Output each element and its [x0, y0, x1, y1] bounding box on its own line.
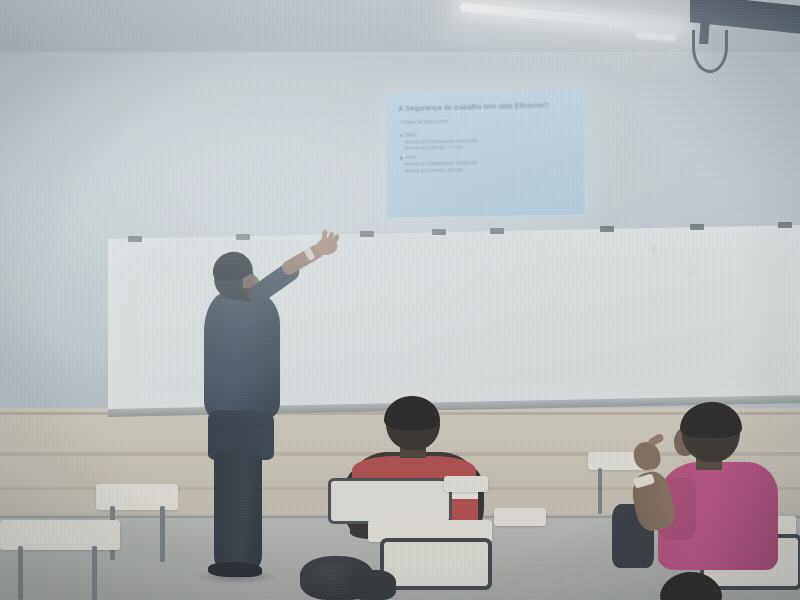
desk-chair-back [380, 538, 492, 590]
desk-chair-back [328, 478, 452, 524]
whiteboard-clip [690, 224, 704, 230]
student2-hair [680, 402, 742, 438]
classroom-photo: A Segurança do trabalho tem sido Eficien… [0, 0, 800, 600]
presenter-shoe [208, 562, 262, 577]
desk-leg [18, 546, 23, 600]
bullet-dot-icon [400, 134, 402, 136]
slide-bullet-label: 2015 [406, 155, 416, 161]
bullet-dot-icon [400, 157, 402, 159]
projected-slide: A Segurança do trabalho tem sido Eficien… [387, 90, 585, 218]
whiteboard-smudge [688, 270, 738, 311]
presenter-torso [204, 292, 280, 418]
slide-bullet-label: 2013 [406, 132, 416, 138]
whiteboard-clip [432, 229, 446, 235]
desk-leg [92, 546, 97, 600]
desk-tablet-top [494, 508, 546, 526]
student2-finger [647, 433, 665, 448]
desk-leg [598, 468, 602, 514]
student-pink-shirt [612, 400, 800, 600]
whiteboard-clip [128, 236, 142, 242]
whiteboard-clip [600, 226, 614, 232]
light-glint [636, 31, 676, 42]
whiteboard-clip [490, 228, 504, 234]
presenter-legs [214, 452, 262, 572]
desk-leg [160, 506, 165, 562]
backpack-on-floor [348, 570, 396, 600]
desk-tablet-top [96, 484, 178, 510]
slide-bullet-list: 2013 Número de Trabalhadores: 48.423.000… [400, 129, 574, 175]
whiteboard-clip [360, 231, 374, 237]
student3-head-partial [660, 572, 722, 600]
whiteboard-clip [778, 222, 792, 228]
slide-subtitle: * Dados de 2013 a 2015 [400, 116, 574, 126]
slide-title: A Segurança do trabalho tem sido Eficien… [398, 100, 574, 113]
desk-tablet-top [444, 476, 488, 492]
student2-hand [632, 440, 662, 471]
presenter [188, 240, 338, 580]
student1-hair [384, 396, 440, 430]
